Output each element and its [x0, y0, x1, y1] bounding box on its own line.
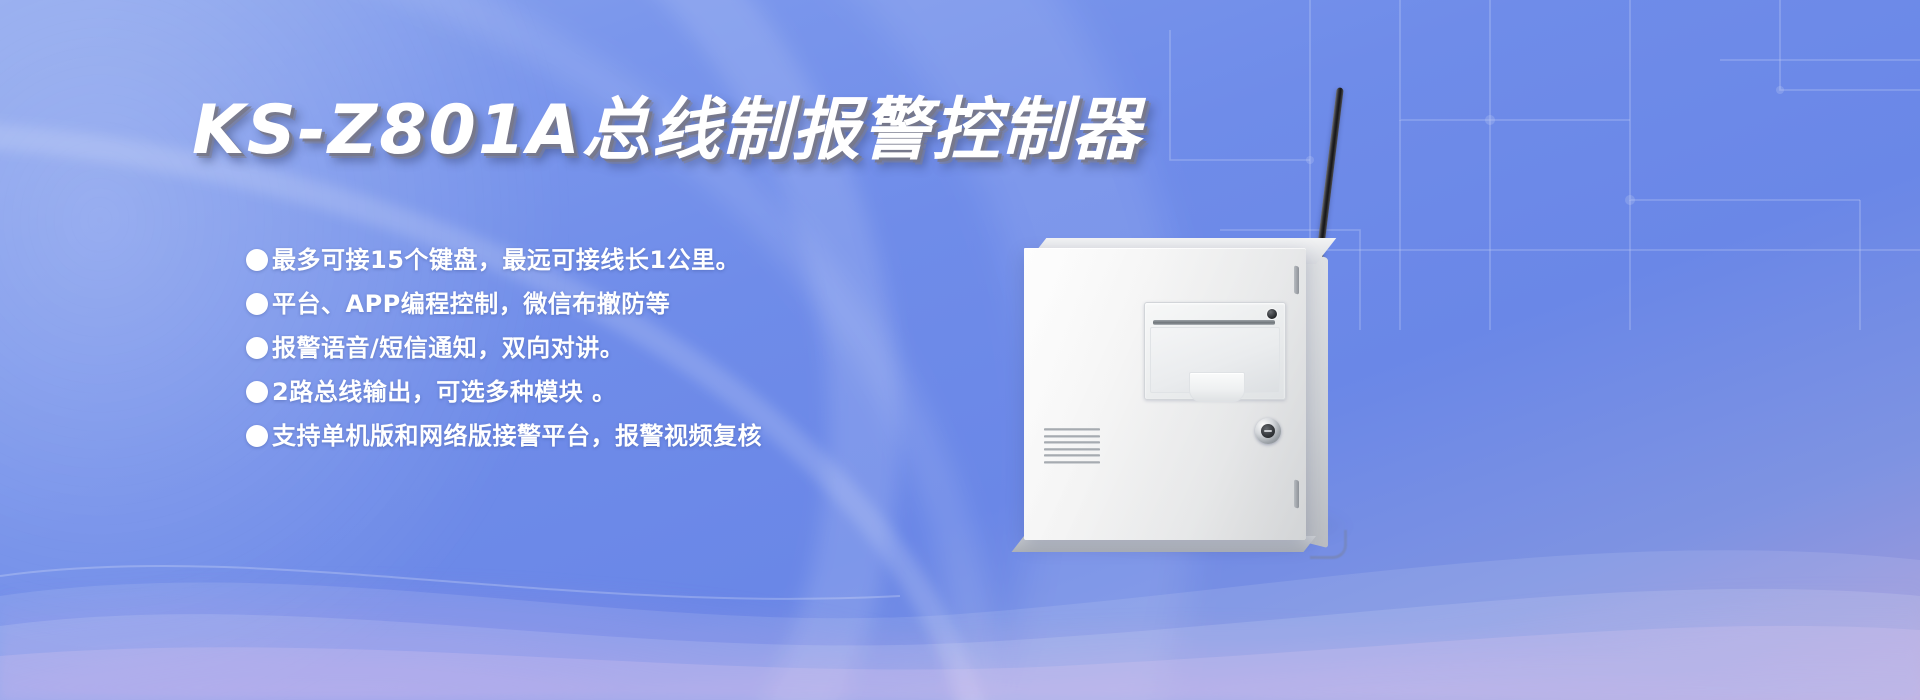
- lock-core: [1261, 424, 1275, 438]
- enclosure-hinge-bottom: [1294, 479, 1299, 508]
- vent-slat: [1044, 428, 1100, 431]
- panel-slot: [1153, 320, 1275, 325]
- list-item: 支持单机版和网络版接警平台，报警视频复核: [246, 414, 1006, 458]
- bullet-dot-icon: [246, 381, 268, 403]
- control-panel-plate: [1144, 302, 1286, 400]
- list-item: 报警语音/短信通知，双向对讲。: [246, 326, 1006, 370]
- bullet-dot-icon: [246, 425, 268, 447]
- vent-slat: [1044, 441, 1100, 444]
- product-banner: KS-Z801A总线制报警控制器 最多可接15个键盘，最远可接线长1公里。 平台…: [0, 0, 1920, 700]
- vent-slat: [1044, 461, 1100, 464]
- bullet-dot-icon: [246, 293, 268, 315]
- bullet-dot-icon: [246, 249, 268, 271]
- list-item: 平台、APP编程控制，微信布撤防等: [246, 282, 1006, 326]
- lock-keyway: [1264, 430, 1272, 432]
- panel-handle: [1189, 372, 1245, 402]
- panel-inner-face: [1150, 327, 1280, 393]
- cable: [1310, 530, 1347, 559]
- enclosure-hinge-top: [1294, 265, 1299, 294]
- list-item: 最多可接15个键盘，最远可接线长1公里。: [246, 238, 1006, 282]
- vent-slat: [1044, 435, 1100, 438]
- feature-text: 报警语音/短信通知，双向对讲。: [272, 326, 624, 370]
- status-led-icon: [1267, 309, 1277, 319]
- list-item: 2路总线输出，可选多种模块 。: [246, 370, 1006, 414]
- product-image: [1010, 60, 1530, 620]
- feature-text: 平台、APP编程控制，微信布撤防等: [272, 282, 670, 326]
- feature-text: 最多可接15个键盘，最远可接线长1公里。: [272, 238, 740, 282]
- feature-text: 2路总线输出，可选多种模块 。: [272, 370, 617, 414]
- feature-text: 支持单机版和网络版接警平台，报警视频复核: [272, 414, 762, 458]
- bullet-dot-icon: [246, 337, 268, 359]
- vent-slat: [1044, 448, 1100, 451]
- feature-list: 最多可接15个键盘，最远可接线长1公里。 平台、APP编程控制，微信布撤防等 报…: [246, 238, 1006, 458]
- page-title: KS-Z801A总线制报警控制器: [192, 74, 1142, 173]
- vent-slat: [1044, 454, 1100, 457]
- background-bottom-wash: [0, 440, 1920, 700]
- vent-grille: [1044, 428, 1100, 464]
- lock-icon: [1255, 418, 1281, 444]
